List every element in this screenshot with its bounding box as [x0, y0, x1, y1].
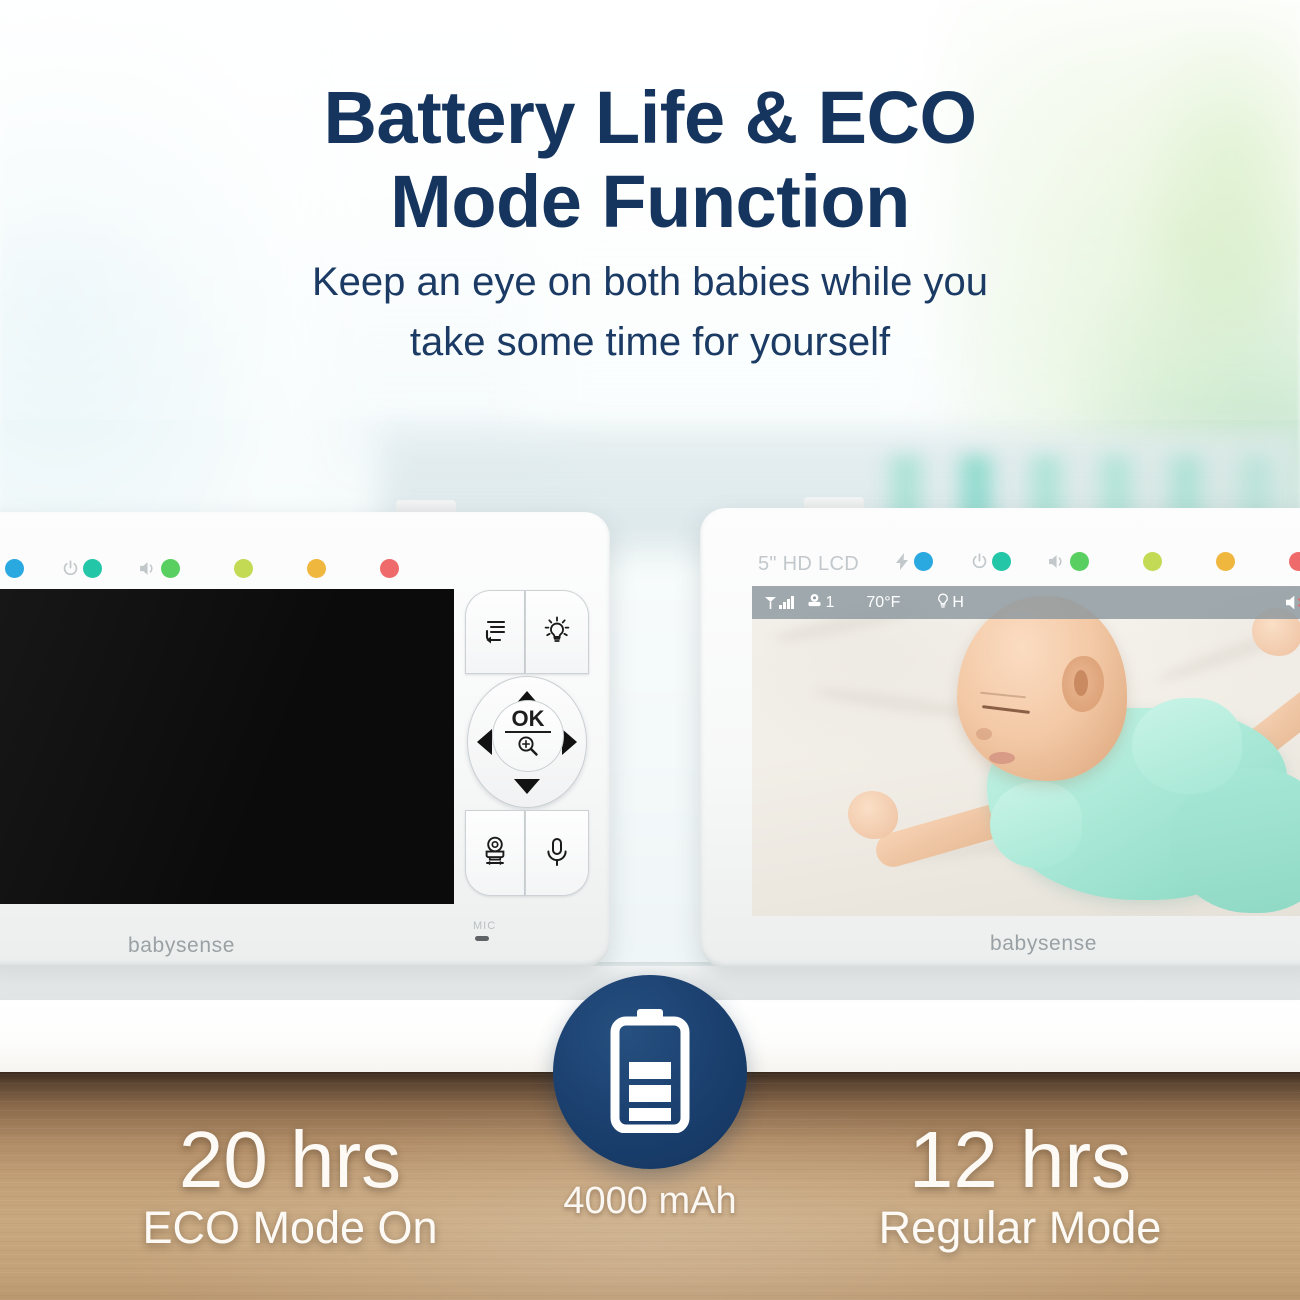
power-led — [992, 552, 1011, 571]
directional-pad[interactable]: OK — [467, 676, 587, 808]
product-feature-banner: Battery Life & ECO Mode Function Keep an… — [0, 0, 1300, 1300]
bulb-state-label: H — [952, 594, 964, 612]
camera-channel-indicator: 1 — [806, 593, 835, 613]
stat-regular-value: 12 hrs — [770, 1118, 1270, 1202]
dpad-down-button[interactable] — [514, 779, 540, 794]
battery-badge — [553, 975, 747, 1169]
charging-led — [914, 552, 933, 571]
mic-slot — [475, 936, 489, 941]
signal-bars-icon — [764, 596, 796, 610]
page-subtitle: Keep an eye on both babies while you tak… — [0, 252, 1300, 372]
bulb-state-indicator: H — [936, 592, 964, 614]
volume-led-4 — [1289, 552, 1300, 571]
video-status-bar: 1 70°F H — [752, 586, 1300, 619]
charging-bolt-icon — [895, 553, 910, 570]
stat-regular-label: Regular Mode — [770, 1202, 1270, 1254]
dpad-right-button[interactable] — [562, 729, 577, 755]
left-baby-monitor[interactable]: OK — [0, 512, 610, 967]
menu-back-button[interactable] — [465, 590, 525, 674]
power-icon — [62, 560, 79, 577]
brand-logo-right: babysense — [990, 932, 1097, 956]
right-baby-monitor[interactable]: 5" HD LCD — [700, 508, 1300, 968]
camera-pan-icon — [475, 831, 515, 876]
light-bulb-icon — [936, 592, 952, 614]
dpad-left-button[interactable] — [477, 729, 492, 755]
volume-led-1 — [161, 559, 180, 578]
stat-regular-mode: 12 hrs Regular Mode — [770, 1118, 1270, 1254]
volume-icon — [140, 561, 157, 576]
volume-led-1 — [1070, 552, 1089, 571]
light-bulb-icon — [538, 611, 576, 654]
mic-label: MIC — [473, 920, 496, 932]
headline-line-2: Mode Function — [0, 160, 1300, 244]
menu-back-icon — [477, 612, 513, 653]
charging-led — [5, 559, 24, 578]
right-screen-display-on[interactable]: 1 70°F H — [752, 586, 1300, 916]
volume-led-2 — [234, 559, 253, 578]
subtitle-line-1: Keep an eye on both babies while you — [0, 252, 1300, 312]
ok-divider — [505, 731, 551, 733]
charging-bolt-icon — [0, 560, 1, 577]
ok-zoom-button[interactable]: OK — [492, 700, 564, 772]
power-icon — [971, 553, 988, 570]
microphone-icon — [540, 832, 574, 875]
speaker-muted-icon[interactable] — [1286, 594, 1300, 611]
left-screen-display-off[interactable] — [0, 589, 454, 904]
volume-led-4 — [380, 559, 399, 578]
volume-led-3 — [307, 559, 326, 578]
subtitle-line-2: take some time for yourself — [0, 312, 1300, 372]
volume-led-3 — [1216, 552, 1235, 571]
temperature-reading: 70°F — [866, 594, 900, 612]
stat-eco-mode: 20 hrs ECO Mode On — [40, 1118, 540, 1254]
battery-icon — [595, 1007, 705, 1138]
volume-led-2 — [1143, 552, 1162, 571]
ok-label: OK — [512, 709, 545, 729]
stat-eco-label: ECO Mode On — [40, 1202, 540, 1254]
volume-icon — [1049, 554, 1066, 569]
control-button-panel: OK — [465, 590, 587, 912]
power-led — [83, 559, 102, 578]
battery-capacity-label: 4000 mAh — [500, 1180, 800, 1223]
talk-button[interactable] — [525, 810, 589, 896]
stat-eco-value: 20 hrs — [40, 1118, 540, 1202]
camera-icon — [806, 593, 826, 613]
led-indicator-row — [0, 559, 399, 578]
lullaby-light-button[interactable] — [525, 590, 589, 674]
camera-channel-number: 1 — [826, 594, 835, 612]
page-title: Battery Life & ECO Mode Function — [0, 76, 1300, 244]
brand-logo-left: babysense — [128, 934, 235, 958]
camera-pan-button[interactable] — [465, 810, 525, 896]
headline-line-1: Battery Life & ECO — [0, 76, 1300, 160]
led-indicator-row — [895, 552, 1300, 571]
screen-size-label: 5" HD LCD — [758, 553, 859, 576]
zoom-in-icon — [516, 734, 540, 763]
